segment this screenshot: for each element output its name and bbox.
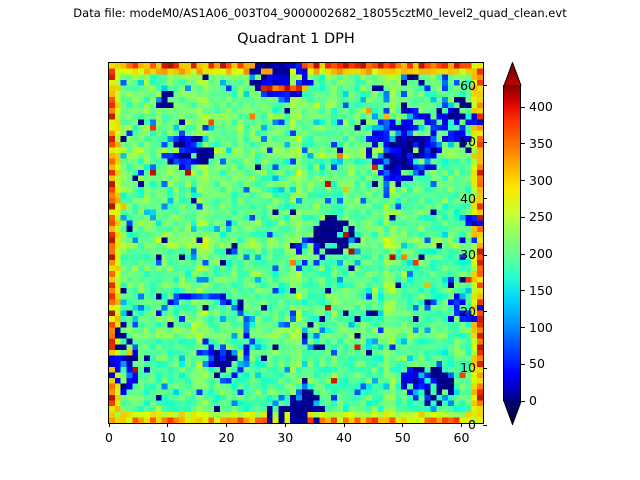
plot-title: Quadrant 1 DPH bbox=[108, 31, 484, 47]
colorbar-tick-mark bbox=[521, 107, 525, 108]
x-tick-mark bbox=[109, 423, 110, 427]
x-tick-label: 40 bbox=[324, 429, 364, 447]
colorbar-tick-mark bbox=[521, 327, 525, 328]
colorbar-tick-mark bbox=[521, 254, 525, 255]
y-tick-label: 40 bbox=[436, 190, 476, 208]
figure-canvas: Data file: modeM0/AS1A06_003T04_90000026… bbox=[0, 0, 640, 480]
y-tick-mark bbox=[483, 311, 487, 312]
y-tick-mark bbox=[483, 85, 487, 86]
colorbar-tick-mark bbox=[521, 180, 525, 181]
x-tick-mark bbox=[226, 423, 227, 427]
x-tick-label: 50 bbox=[383, 429, 423, 447]
x-tick-mark bbox=[402, 423, 403, 427]
colorbar-tick-label: 0 bbox=[529, 392, 577, 410]
colorbar-tick-mark bbox=[521, 217, 525, 218]
colorbar-tick-label: 150 bbox=[529, 282, 577, 300]
y-tick-label: 30 bbox=[436, 246, 476, 264]
heatmap-axes: 0102030405060 0102030405060 bbox=[108, 62, 484, 424]
x-tick-label: 30 bbox=[265, 429, 305, 447]
colorbar: 050100150200250300350400 bbox=[503, 62, 521, 424]
colorbar-tick-label: 200 bbox=[529, 245, 577, 263]
data-file-suptitle: Data file: modeM0/AS1A06_003T04_90000026… bbox=[0, 6, 640, 20]
y-tick-label: 20 bbox=[436, 303, 476, 321]
heatmap-image bbox=[109, 63, 483, 423]
colorbar-tick-label: 50 bbox=[529, 355, 577, 373]
colorbar-gradient: 050100150200250300350400 bbox=[503, 85, 521, 401]
colorbar-tick-label: 300 bbox=[529, 172, 577, 190]
x-tick-mark bbox=[461, 423, 462, 427]
x-tick-label: 10 bbox=[148, 429, 188, 447]
x-tick-label: 20 bbox=[207, 429, 247, 447]
x-tick-mark bbox=[285, 423, 286, 427]
y-tick-label: 60 bbox=[436, 77, 476, 95]
colorbar-tick-mark bbox=[521, 143, 525, 144]
y-tick-mark bbox=[483, 255, 487, 256]
y-tick-mark bbox=[483, 425, 487, 426]
colorbar-tick-label: 250 bbox=[529, 208, 577, 226]
colorbar-tick-label: 400 bbox=[529, 98, 577, 116]
y-tick-label: 10 bbox=[436, 359, 476, 377]
colorbar-tick-label: 100 bbox=[529, 319, 577, 337]
colorbar-extend-bottom-arrow bbox=[503, 401, 521, 424]
x-tick-label: 0 bbox=[89, 429, 129, 447]
colorbar-tick-mark bbox=[521, 290, 525, 291]
y-tick-mark bbox=[483, 198, 487, 199]
colorbar-tick-label: 350 bbox=[529, 135, 577, 153]
x-tick-mark bbox=[167, 423, 168, 427]
colorbar-extend-top-arrow bbox=[503, 62, 521, 85]
colorbar-tick-mark bbox=[521, 364, 525, 365]
y-tick-label: 50 bbox=[436, 133, 476, 151]
y-tick-mark bbox=[483, 368, 487, 369]
x-tick-mark bbox=[344, 423, 345, 427]
y-tick-mark bbox=[483, 142, 487, 143]
x-tick-label: 60 bbox=[442, 429, 482, 447]
